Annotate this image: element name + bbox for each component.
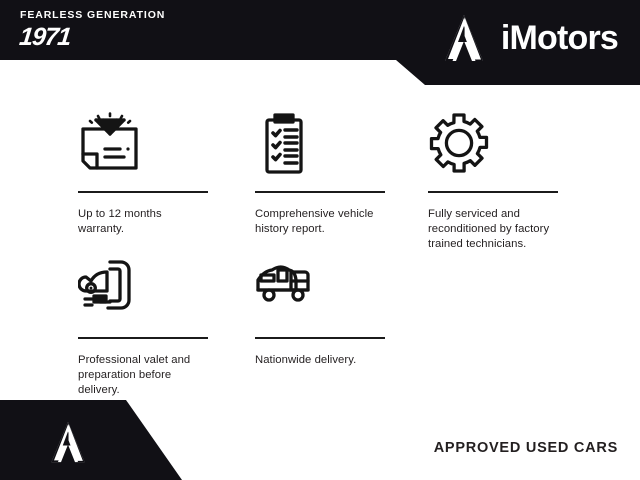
vacuum-cleaner-icon — [78, 258, 208, 322]
feature-divider — [255, 191, 385, 193]
feature-label: Comprehensive vehicle history report. — [255, 207, 385, 237]
feature-item: Comprehensive vehicle history report. — [255, 112, 385, 237]
brand-lockup[interactable]: iMotors — [439, 14, 618, 62]
header-year-label: 1971 — [18, 23, 168, 51]
header-eyebrow-label: FEARLESS GENERATION — [20, 9, 165, 21]
promo-banner: FEARLESS GENERATION 1971 iMotors — [0, 0, 640, 480]
feature-label: Professional valet and preparation befor… — [78, 353, 208, 399]
feature-item: Fully serviced and reconditioned by fact… — [428, 112, 558, 253]
feature-divider — [78, 337, 208, 339]
warranty-certificate-diamond-icon — [78, 112, 208, 176]
feature-item: Nationwide delivery. — [255, 258, 385, 368]
feature-divider — [428, 191, 558, 193]
gear-cog-icon — [428, 112, 558, 176]
imotors-chevron-logo-icon — [46, 421, 90, 463]
feature-label: Fully serviced and reconditioned by fact… — [428, 207, 558, 253]
feature-label: Nationwide delivery. — [255, 353, 385, 368]
feature-divider — [78, 191, 208, 193]
feature-item: Professional valet and preparation befor… — [78, 258, 208, 399]
features-row-1: Up to 12 months warranty. Comprehensive … — [78, 112, 573, 248]
feature-item: Up to 12 months warranty. — [78, 112, 208, 237]
brand-name-label: iMotors — [501, 20, 618, 56]
feature-divider — [255, 337, 385, 339]
car-transporter-truck-icon — [255, 258, 385, 322]
footer-logo-panel — [0, 400, 182, 480]
imotors-chevron-logo-icon — [439, 14, 489, 62]
clipboard-checklist-icon — [255, 112, 385, 176]
header: FEARLESS GENERATION 1971 iMotors — [0, 0, 640, 85]
footer-tagline-label: APPROVED USED CARS — [434, 440, 618, 456]
feature-label: Up to 12 months warranty. — [78, 207, 208, 237]
fearless-generation-block: FEARLESS GENERATION 1971 — [20, 9, 165, 51]
